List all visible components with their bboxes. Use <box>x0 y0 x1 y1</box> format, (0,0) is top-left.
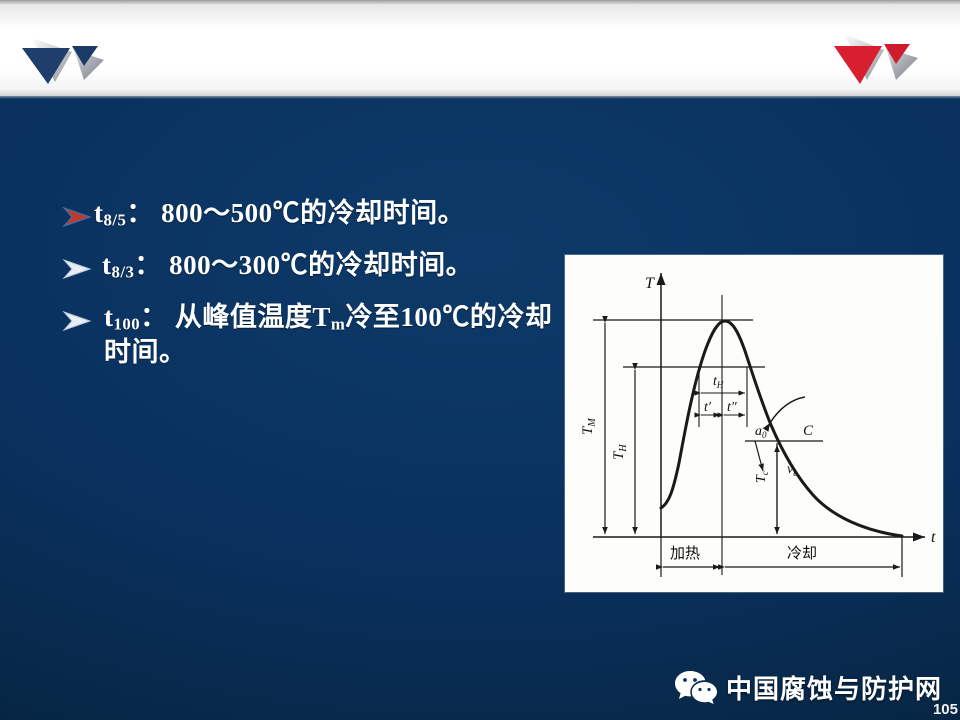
label-Tc: Tc <box>754 471 770 483</box>
bullet-symbol-3: t <box>104 302 114 332</box>
page-number: 105 <box>933 701 958 718</box>
bullet-subscript-1: 8/5 <box>104 211 127 230</box>
label-t-double-prime: t″ <box>727 400 737 415</box>
footer-brand-text: 中国腐蚀与防护网 <box>726 669 942 706</box>
list-item: t8/5： 800～500℃的冷却时间。 <box>60 196 560 234</box>
label-TM: TM <box>580 418 598 435</box>
label-cooling: 冷却 <box>787 545 817 562</box>
welding-thermal-cycle-figure: T t TM TH <box>565 255 943 592</box>
bullet-body-1: ： 800～500℃的冷却时间。 <box>126 198 465 228</box>
axis-label-t: t <box>931 529 936 546</box>
wechat-icon <box>674 668 718 704</box>
list-item: t100： 从峰值温度Tm冷至100℃的冷却时间。 <box>60 300 560 371</box>
tangent-arc-indicator <box>770 397 805 423</box>
arrow-bullet-red-icon <box>60 200 94 234</box>
bullet-symbol-2: t <box>102 250 112 280</box>
arrow-bullet-white-icon <box>60 252 94 286</box>
footer-brand: 中国腐蚀与防护网 <box>674 668 942 706</box>
bullet-body-2: ： 800～300℃的冷却时间。 <box>134 250 473 280</box>
header-band <box>0 0 960 97</box>
label-vc: vc <box>787 462 797 478</box>
bullet-symbol-1: t <box>94 198 104 228</box>
bullet-text-1: t8/5： 800～500℃的冷却时间。 <box>94 196 465 231</box>
header-divider <box>0 96 960 99</box>
bullet-inline-subscript-3: m <box>331 315 345 334</box>
bullet-subscript-3: 100 <box>114 315 141 334</box>
label-t-prime: t′ <box>704 400 712 415</box>
bullet-text-3: t100： 从峰值温度Tm冷至100℃的冷却时间。 <box>94 300 560 371</box>
label-heating: 加热 <box>670 545 700 562</box>
bullet-list: t8/5： 800～500℃的冷却时间。 t8/3： 800～300℃的冷却时间… <box>60 196 560 385</box>
slide-root: t8/5： 800～500℃的冷却时间。 t8/3： 800～300℃的冷却时间… <box>0 0 960 720</box>
bullet-text-2: t8/3： 800～300℃的冷却时间。 <box>94 248 473 283</box>
list-item: t8/3： 800～300℃的冷却时间。 <box>60 248 560 286</box>
thermal-cycle-diagram: T t TM TH <box>565 255 943 592</box>
arrow-alpha0 <box>755 441 763 471</box>
bullet-subscript-2: 8/3 <box>112 263 135 282</box>
axis-label-T: T <box>645 275 655 292</box>
bullet-body-3: ： 从峰值温度T <box>140 302 331 332</box>
label-TH: TH <box>611 444 629 460</box>
company-logo-blue-arrow-icon <box>12 18 132 90</box>
company-logo-red-arrow-icon <box>822 18 942 90</box>
arrow-bullet-white-icon <box>60 304 94 338</box>
label-point-C: C <box>803 423 814 439</box>
thermal-cycle-curve <box>661 321 902 536</box>
label-alpha0: a0 <box>755 424 767 440</box>
